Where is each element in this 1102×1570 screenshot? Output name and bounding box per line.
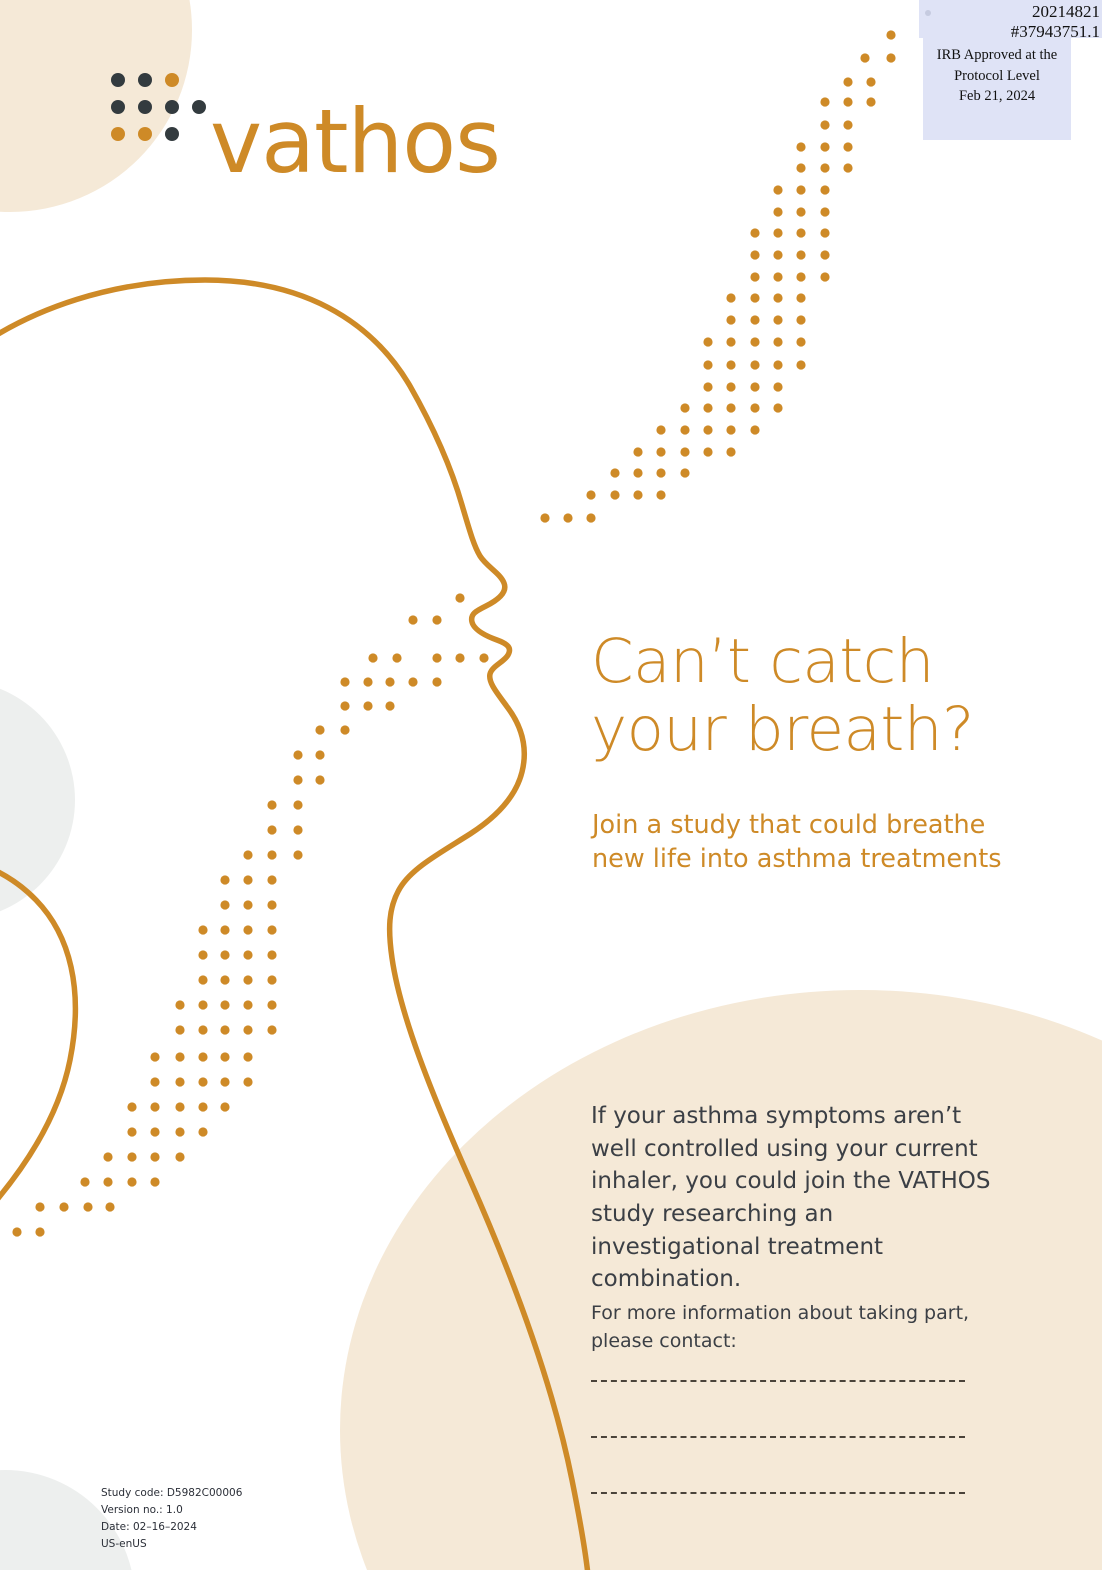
contact-write-in-line[interactable]: [591, 1380, 965, 1383]
footer-study-code: Study code: D5982C00006: [101, 1485, 242, 1502]
face-profile-outline: [0, 280, 588, 1570]
contact-lead-line-2: please contact:: [591, 1328, 991, 1356]
contact-lead: For more information about taking part, …: [591, 1300, 991, 1355]
headline-line-2: your breath?: [591, 696, 1061, 764]
irb-approval-line-3: Feb 21, 2024: [923, 86, 1071, 107]
footer-version: Version no.: 1.0: [101, 1502, 242, 1519]
body-paragraph: If your asthma symptoms aren’t well cont…: [591, 1100, 991, 1296]
irb-id-line-1: 20214821: [919, 2, 1100, 22]
subhead-line-1: Join a study that could breathe: [592, 808, 1012, 842]
irb-stamp-ids: 20214821 #37943751.1: [919, 2, 1100, 42]
irb-approval-stamp: 20214821 #37943751.1 IRB Approved at the…: [919, 0, 1102, 140]
contact-write-in-line[interactable]: [591, 1492, 965, 1495]
subhead-line-2: new life into asthma treatments: [592, 842, 1012, 876]
brand-wordmark: vathos: [210, 98, 500, 186]
contact-write-in-line[interactable]: [591, 1436, 965, 1439]
irb-approval-line-2: Protocol Level: [923, 66, 1071, 87]
page-subtitle: Join a study that could breathe new life…: [592, 808, 1012, 877]
contact-write-in-lines: [591, 1380, 965, 1548]
irb-approval-line-1: IRB Approved at the: [923, 45, 1071, 66]
footer-metadata: Study code: D5982C00006 Version no.: 1.0…: [101, 1485, 242, 1553]
poster-page: vathos 20214821 #37943751.1 IRB Approved…: [0, 0, 1102, 1570]
gray-circle-mid-left: [0, 680, 75, 920]
footer-date: Date: 02–16–2024: [101, 1519, 242, 1536]
page-title: Can’t catch your breath?: [591, 628, 1061, 765]
headline-line-1: Can’t catch: [591, 626, 934, 697]
irb-stamp-approval-text: IRB Approved at the Protocol Level Feb 2…: [923, 45, 1071, 107]
contact-lead-line-1: For more information about taking part,: [591, 1300, 991, 1328]
brand-logo: vathos: [100, 72, 520, 202]
secondary-profile-curve: [0, 855, 75, 1240]
footer-locale: US-enUS: [101, 1536, 242, 1553]
irb-id-line-2: #37943751.1: [919, 22, 1100, 42]
